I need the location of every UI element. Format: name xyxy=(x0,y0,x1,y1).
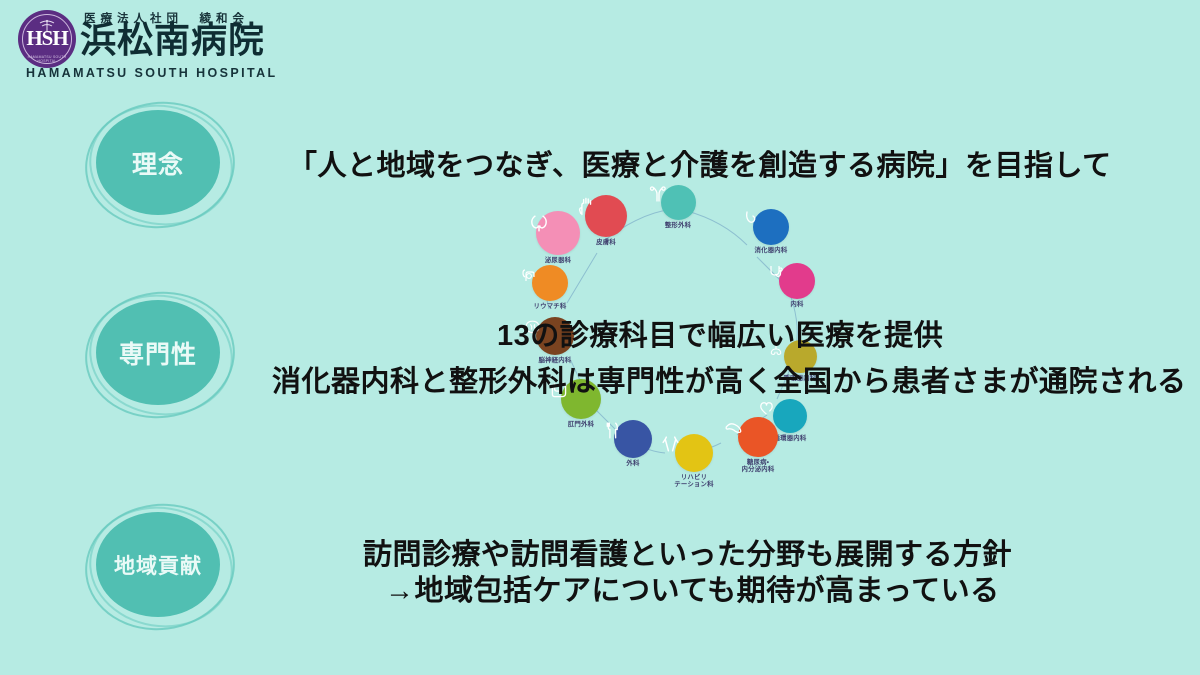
pillar-label: 専門性 xyxy=(85,292,231,414)
pillar-community: 地域貢献 xyxy=(85,504,231,626)
stethoscope-icon xyxy=(779,263,815,299)
dept-node: 皮膚科 xyxy=(575,195,637,246)
hospital-name-en: HAMAMATSU SOUTH HOSPITAL xyxy=(26,66,278,80)
hospital-logo: HSH HAMAMATSU SOUTH HOSPITAL 医療法人社団 綾和会 … xyxy=(14,4,294,84)
dept-label: 内科 xyxy=(766,301,828,308)
bone-joint-icon xyxy=(661,185,696,220)
dept-node: リハビリ テーション科 xyxy=(660,434,728,489)
slide-root: HSH HAMAMATSU SOUTH HOSPITAL 医療法人社団 綾和会 … xyxy=(0,0,1200,675)
skin-hand-icon xyxy=(585,195,627,237)
dept-label: 整形外科 xyxy=(648,222,708,229)
dept-node: 消化器内科 xyxy=(740,209,802,254)
pillar-label: 理念 xyxy=(85,102,231,224)
crutches-icon xyxy=(675,434,713,472)
pillar-specialty: 専門性 xyxy=(85,292,231,414)
stomach-icon xyxy=(753,209,789,245)
dept-label: 皮膚科 xyxy=(575,239,637,246)
hsh-emblem-icon: HSH HAMAMATSU SOUTH HOSPITAL xyxy=(18,10,76,68)
dept-label: 消化器内科 xyxy=(740,247,802,254)
pillar-label: 地域貢献 xyxy=(85,504,231,626)
dept-label: 肛門外科 xyxy=(548,421,614,428)
joint-hand-icon xyxy=(532,265,568,301)
community-line-2: →地域包括ケアについても期待が高まっている xyxy=(385,567,1000,609)
emblem-micro-text: HAMAMATSU SOUTH HOSPITAL xyxy=(18,55,76,63)
scalpel-icon xyxy=(614,420,652,458)
dept-node: リウマチ科 xyxy=(519,265,581,310)
specialty-line-1: 13の診療科目で幅広い医療を提供 xyxy=(497,312,943,354)
pillar-philosophy: 理念 xyxy=(85,102,231,224)
dept-label: 糖尿病・ 内分泌内科 xyxy=(723,459,793,474)
pancreas-icon xyxy=(738,417,778,457)
dept-label: 外科 xyxy=(602,460,664,467)
dept-node: 内科 xyxy=(766,263,828,308)
dept-label: リウマチ科 xyxy=(519,303,581,310)
philosophy-text: 「人と地域をつなぎ、医療と介護を創造する病院」を目指して xyxy=(288,142,1112,184)
dept-label: リハビリ テーション科 xyxy=(660,474,728,489)
kidney-icon xyxy=(536,211,580,255)
hsh-monogram: HSH xyxy=(18,26,76,51)
dept-node: 糖尿病・ 内分泌内科 xyxy=(723,417,793,474)
specialty-line-2: 消化器内科と整形外科は専門性が高く全国から患者さまが通院される xyxy=(272,358,1187,400)
dept-label: 泌尿器科 xyxy=(527,257,589,264)
dept-node: 整形外科 xyxy=(648,185,708,229)
hospital-name-jp: 浜松南病院 xyxy=(80,22,265,58)
